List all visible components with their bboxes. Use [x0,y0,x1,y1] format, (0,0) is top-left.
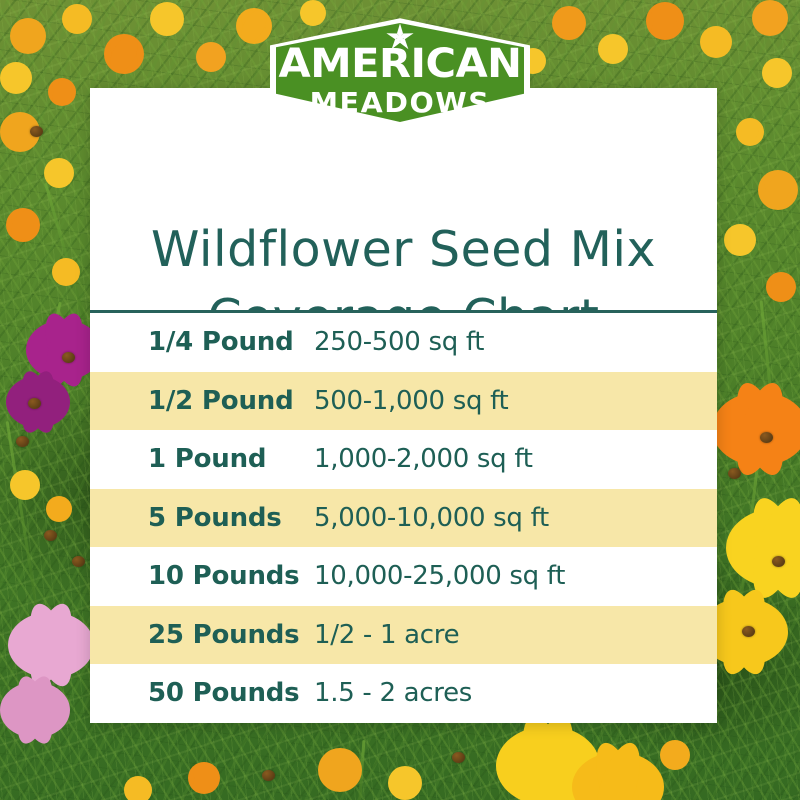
flower-blossom [236,8,272,44]
seed-head [44,530,57,541]
cell-coverage: 10,000-25,000 sq ft [314,563,717,589]
cell-seed-amount: 1/2 Pound [90,388,314,414]
screenshot-root: Wildflower Seed Mix Coverage Chart 1/4 P… [0,0,800,800]
seed-head [28,398,41,409]
flower-blossom [752,0,788,36]
flower-blossom [766,272,796,302]
flower-blossom [660,740,690,770]
flower-blossom [712,392,800,466]
seed-head [16,436,29,447]
flower-blossom [6,208,40,242]
brand-logo[interactable]: AMERICAN MEADOWS [270,16,530,129]
flower-blossom [10,18,46,54]
seed-head [262,770,275,781]
cell-coverage: 1,000-2,000 sq ft [314,446,717,472]
logo-line-meadows: MEADOWS [267,89,532,117]
flower-blossom [552,6,586,40]
table-row: 1 Pound 1,000-2,000 sq ft [90,430,717,489]
cell-seed-amount: 10 Pounds [90,563,314,589]
flower-blossom [318,748,362,792]
flower-blossom [44,158,74,188]
seed-head [742,626,755,637]
flower-blossom [762,58,792,88]
flower-blossom [150,2,184,36]
flower-blossom [700,26,732,58]
flower-blossom [52,258,80,286]
cell-coverage: 1.5 - 2 acres [314,680,717,706]
cell-coverage: 250-500 sq ft [314,329,717,355]
flower-blossom [124,776,152,800]
table-row: 1/4 Pound 250-500 sq ft [90,313,717,372]
flower-blossom [646,2,684,40]
table-row: 50 Pounds 1.5 - 2 acres [90,664,717,723]
cell-coverage: 5,000-10,000 sq ft [314,505,717,531]
flower-blossom [188,762,220,794]
seed-head [62,352,75,363]
logo-wordmark: AMERICAN MEADOWS [270,44,530,117]
table-row: 5 Pounds 5,000-10,000 sq ft [90,489,717,548]
table-row: 10 Pounds 10,000-25,000 sq ft [90,547,717,606]
table-row: 1/2 Pound 500-1,000 sq ft [90,372,717,431]
content-card: Wildflower Seed Mix Coverage Chart 1/4 P… [90,88,717,723]
flower-blossom [10,470,40,500]
flower-blossom [0,62,32,94]
flower-blossom [598,34,628,64]
flower-blossom [8,612,94,678]
cell-seed-amount: 1 Pound [90,446,314,472]
flower-blossom [724,224,756,256]
flower-blossom [48,78,76,106]
seed-head [760,432,773,443]
cell-coverage: 500-1,000 sq ft [314,388,717,414]
cell-seed-amount: 50 Pounds [90,680,314,706]
flower-blossom [104,34,144,74]
cell-seed-amount: 25 Pounds [90,622,314,648]
flower-blossom [62,4,92,34]
flower-blossom [46,496,72,522]
cell-seed-amount: 1/4 Pound [90,329,314,355]
flower-blossom [736,118,764,146]
seed-head [72,556,85,567]
flower-blossom [0,682,70,738]
seed-head [728,468,741,479]
flower-blossom [196,42,226,72]
cell-seed-amount: 5 Pounds [90,505,314,531]
title-line-1: Wildflower Seed Mix [151,221,656,278]
seed-head [772,556,785,567]
flower-blossom [758,170,798,210]
table-row: 25 Pounds 1/2 - 1 acre [90,606,717,665]
coverage-table: 1/4 Pound 250-500 sq ft 1/2 Pound 500-1,… [90,313,717,723]
flower-blossom [388,766,422,800]
logo-line-american: AMERICAN [265,44,535,84]
seed-head [30,126,43,137]
cell-coverage: 1/2 - 1 acre [314,622,717,648]
seed-head [452,752,465,763]
